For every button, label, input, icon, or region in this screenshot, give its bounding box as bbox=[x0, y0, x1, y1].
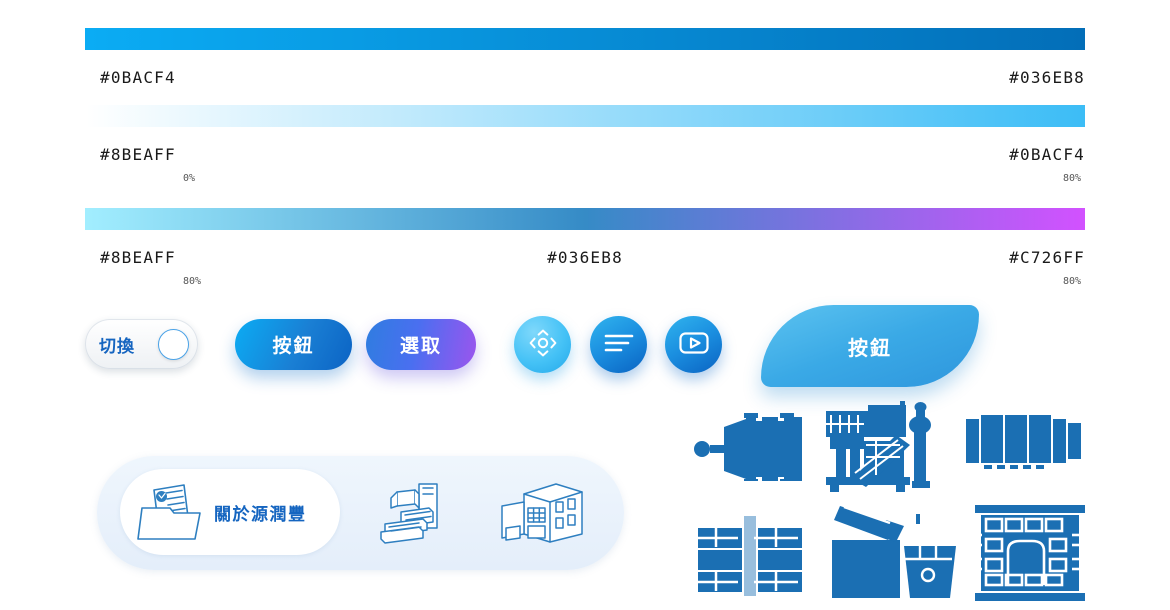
crushing-plant-icon[interactable] bbox=[820, 401, 950, 493]
gradient-labels-blue-purple: #8BEAFF #036EB8 #C726FF bbox=[85, 248, 1085, 270]
gradient-labels-light-fade: #8BEAFF #0BACF4 bbox=[85, 145, 1085, 167]
hex-label-left: #0BACF4 bbox=[100, 68, 176, 87]
hex-label-left: #8BEAFF bbox=[100, 248, 176, 267]
select-button[interactable]: 選取 bbox=[366, 319, 476, 370]
conveyor-drum-icon[interactable] bbox=[962, 409, 1090, 481]
folder-documents-icon bbox=[134, 476, 208, 549]
gradient-bar-primary bbox=[85, 28, 1085, 50]
product-icon-grid bbox=[690, 405, 1090, 610]
list-menu-icon bbox=[604, 332, 634, 357]
hex-label-center: #036EB8 bbox=[547, 248, 623, 267]
about-card-label: 關於源潤豐 bbox=[214, 500, 307, 525]
gradient-labels-primary: #0BACF4 #036EB8 bbox=[85, 68, 1085, 90]
leaf-button[interactable]: 按鈕 bbox=[761, 305, 979, 387]
hex-label-right: #C726FF bbox=[1009, 248, 1085, 267]
video-play-icon bbox=[678, 330, 710, 359]
toggle-switch[interactable]: 切換 bbox=[85, 319, 198, 369]
swatch-row-blue-purple: #8BEAFF #036EB8 #C726FF 80% 80% bbox=[85, 208, 1085, 290]
swatch-row-light-fade: #8BEAFF #0BACF4 0% 80% bbox=[85, 105, 1085, 187]
primary-button[interactable]: 按鈕 bbox=[235, 319, 352, 370]
rotary-dryer-icon[interactable] bbox=[690, 405, 810, 485]
opacity-label-left: 80% bbox=[183, 276, 201, 287]
vr-360-icon bbox=[526, 326, 560, 363]
controls-row: 切換 按鈕 選取 bbox=[0, 303, 1170, 395]
toggle-knob[interactable] bbox=[158, 329, 189, 360]
video-button[interactable] bbox=[665, 316, 722, 373]
vr-360-button[interactable] bbox=[514, 316, 571, 373]
menu-button[interactable] bbox=[590, 316, 647, 373]
opacity-label-right: 80% bbox=[1063, 276, 1081, 287]
cnc-machine-outline-icon[interactable] bbox=[375, 478, 455, 555]
design-system-swatch-page: #0BACF4 #036EB8 #8BEAFF #0BACF4 0% 80% #… bbox=[0, 0, 1170, 610]
gradient-opacity-labels-blue-purple: 80% 80% bbox=[85, 276, 1085, 290]
tunnel-kiln-icon[interactable] bbox=[970, 501, 1090, 605]
block-making-building-icon[interactable] bbox=[690, 505, 810, 605]
gradient-bar-light-fade bbox=[85, 105, 1085, 127]
factory-building-outline-icon[interactable] bbox=[494, 480, 586, 553]
hex-label-left: #8BEAFF bbox=[100, 145, 176, 164]
swatch-row-primary: #0BACF4 #036EB8 bbox=[85, 28, 1085, 90]
about-card[interactable]: 關於源潤豐 bbox=[97, 456, 624, 570]
hex-label-right: #036EB8 bbox=[1009, 68, 1085, 87]
opacity-label-right: 80% bbox=[1063, 173, 1081, 184]
gradient-bar-blue-purple bbox=[85, 208, 1085, 230]
opacity-label-left: 0% bbox=[183, 173, 195, 184]
about-card-inner[interactable]: 關於源潤豐 bbox=[120, 469, 340, 555]
toggle-label: 切換 bbox=[99, 332, 135, 357]
mixer-bucket-icon[interactable] bbox=[828, 501, 968, 605]
gradient-opacity-labels-light-fade: 0% 80% bbox=[85, 173, 1085, 187]
hex-label-right: #0BACF4 bbox=[1009, 145, 1085, 164]
